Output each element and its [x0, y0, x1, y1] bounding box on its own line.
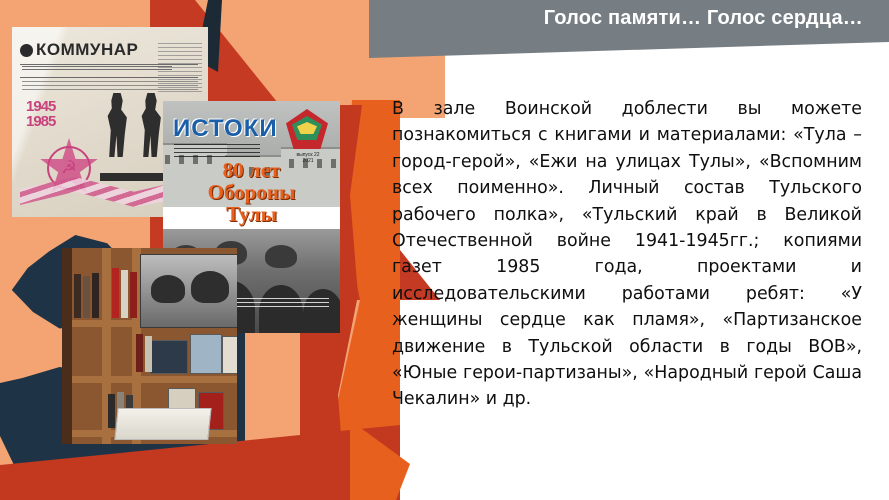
- istoki-emblem-icon: [286, 109, 328, 149]
- newspaper-logo-dot: [20, 44, 33, 57]
- title-banner: Голос памяти… Голос сердца…: [369, 0, 889, 58]
- helmet-shape: [191, 271, 229, 303]
- page-title: Голос памяти… Голос сердца…: [544, 0, 889, 28]
- newspaper-subtitle-lines: [22, 66, 172, 71]
- standing-book: [222, 336, 237, 374]
- book-row: [112, 266, 137, 318]
- shelf-board: [72, 376, 237, 383]
- photo-library-display: [62, 248, 237, 444]
- istoki-headline-line3: Тулы: [163, 203, 340, 225]
- soldier-figure: [104, 93, 130, 157]
- helmet-shape: [151, 275, 185, 303]
- soldier-back: [303, 289, 340, 333]
- body-paragraph: В зале Воинской доблести вы можете позна…: [392, 96, 862, 413]
- framed-picture: [150, 340, 188, 374]
- istoki-title: ИСТОКИ: [173, 117, 278, 141]
- newspaper-year-start: 1945: [26, 99, 55, 114]
- inset-war-photo: [140, 254, 237, 328]
- presentation-slide: Голос памяти… Голос сердца… КОММУНАР 194…: [0, 0, 889, 500]
- helmet-shape: [265, 245, 297, 268]
- slide-body-text: В зале Воинской доблести вы можете позна…: [392, 96, 862, 413]
- open-book-papers: [114, 408, 211, 440]
- istoki-headline-line2: Обороны: [163, 181, 340, 203]
- book-row: [74, 272, 99, 318]
- istoki-headline: 80 лет Обороны Тулы: [163, 159, 340, 225]
- soldier-back: [259, 285, 303, 333]
- book-row: [136, 332, 152, 372]
- istoki-headline-line1: 80 лет: [163, 159, 340, 181]
- newspaper-masthead-text: КОММУНАР: [36, 40, 138, 60]
- newspaper-anniversary-years: 1945 1985: [26, 99, 55, 129]
- newspaper-year-end: 1985: [26, 114, 55, 129]
- framed-picture: [190, 334, 222, 374]
- soldier-figure: [138, 93, 164, 157]
- hammer-sickle-icon: ☭: [61, 159, 77, 177]
